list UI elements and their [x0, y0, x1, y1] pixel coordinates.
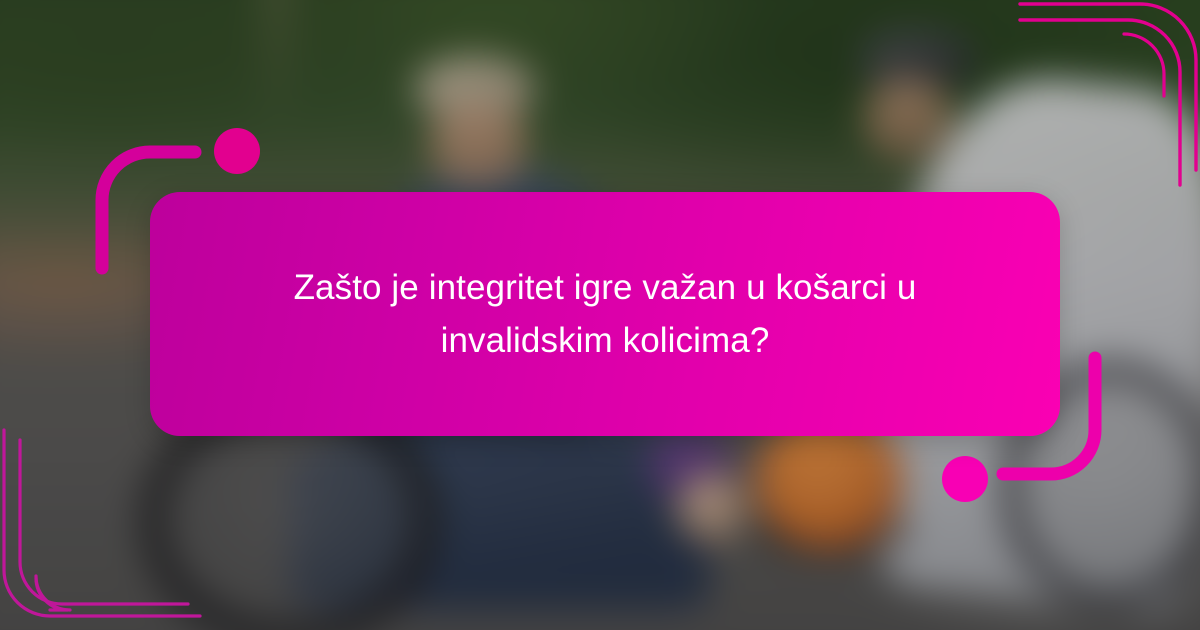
accent-dot-top-left: [214, 128, 260, 174]
headline-card: Zašto je integritet igre važan u košarci…: [150, 192, 1060, 436]
social-card-canvas: Zašto je integritet igre važan u košarci…: [0, 0, 1200, 630]
accent-dot-bottom-right: [942, 456, 988, 502]
headline-text: Zašto je integritet igre važan u košarci…: [216, 261, 994, 367]
